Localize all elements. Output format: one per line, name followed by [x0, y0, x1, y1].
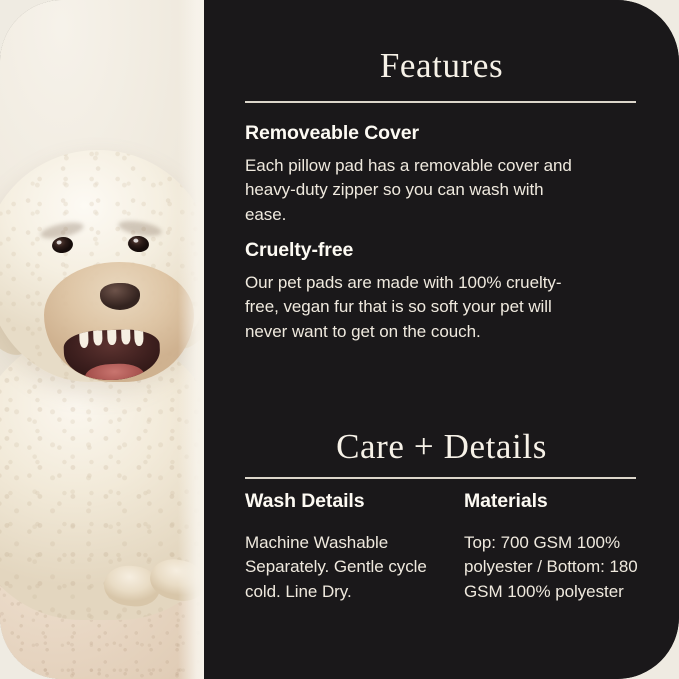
dog-tooth — [93, 330, 103, 345]
feature-heading: Cruelty-free — [245, 239, 565, 262]
dog-tongue — [84, 363, 145, 382]
care-column-body: Machine Washable Separately. Gentle cycl… — [245, 533, 427, 601]
feature-body: Our pet pads are made with 100% cruelty-… — [245, 273, 561, 341]
dog-tooth — [107, 330, 117, 345]
care-column-heading: Materials — [464, 490, 642, 513]
feature-item-cruelty-free: Cruelty-free Our pet pads are made with … — [245, 239, 565, 344]
feature-item-removeable-cover: Removeable Cover Each pillow pad has a r… — [245, 122, 585, 227]
dog-tooth — [79, 331, 89, 348]
features-divider — [245, 101, 636, 103]
care-section-title: Care + Details — [204, 429, 679, 464]
product-info-card: Features Removeable Cover Each pillow pa… — [0, 0, 679, 679]
dog-tooth — [134, 329, 144, 346]
feature-body: Each pillow pad has a removable cover an… — [245, 156, 572, 224]
feature-heading: Removeable Cover — [245, 122, 585, 145]
dog-nose — [100, 283, 140, 310]
care-column-heading: Wash Details — [245, 490, 431, 513]
product-photo-dog — [0, 0, 204, 679]
details-panel: Features Removeable Cover Each pillow pa… — [204, 0, 679, 679]
care-divider — [245, 477, 636, 479]
dog-tooth — [121, 329, 131, 344]
photo-edge-fade — [178, 0, 204, 679]
care-column-materials: Materials Top: 700 GSM 100% polyester / … — [464, 490, 642, 604]
care-column-body: Top: 700 GSM 100% polyester / Bottom: 18… — [464, 533, 638, 601]
card-plate: Features Removeable Cover Each pillow pa… — [0, 0, 679, 679]
care-columns: Wash Details Machine Washable Separately… — [245, 490, 643, 604]
features-section-title: Features — [204, 48, 679, 83]
care-column-wash-details: Wash Details Machine Washable Separately… — [245, 490, 431, 604]
